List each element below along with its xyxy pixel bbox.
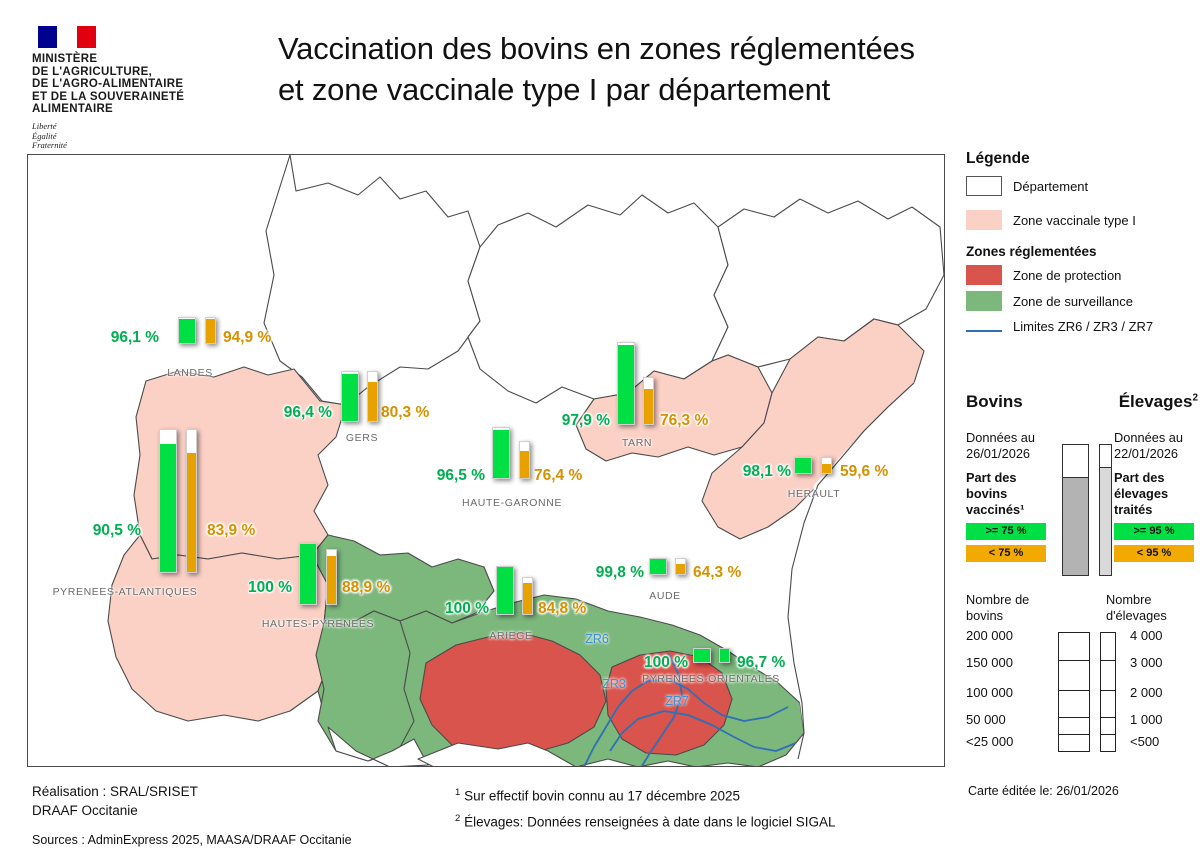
- stats-heading-elevages-sup: 2: [1192, 392, 1198, 403]
- size-label-bovins-4: <25 000: [966, 734, 1013, 749]
- pct-bovins-herault: 98,1 %: [743, 463, 791, 481]
- bar-bovins-fill-tarn: [618, 345, 634, 424]
- pct-elevages-tarn: 76,3 %: [660, 412, 708, 430]
- swatch-departement-icon: [966, 176, 1002, 196]
- bar-elevages-fill-landes: [206, 319, 215, 343]
- size-bovins-title-1: Nombre de: [966, 592, 1058, 608]
- bar-elevages-fill-haute-garonne: [520, 451, 529, 479]
- bar-elevages-tarn: [643, 377, 654, 425]
- footer-note-1-sup: 1: [455, 787, 460, 798]
- pct-elevages-pyrenees-atlantiques: 83,9 %: [207, 522, 255, 540]
- bar-bovins-fill-pyrenees-atlantiques: [160, 444, 176, 573]
- pct-bovins-hautes-pyrenees: 100 %: [248, 579, 292, 597]
- size-label-elevages-2: 2 000: [1130, 685, 1163, 700]
- bar-bovins-gers: [341, 371, 359, 422]
- footer-note-2-text: Élevages: Données renseignées à date dan…: [464, 814, 836, 829]
- bar-bovins-pyrenees-atlantiques: [159, 429, 177, 573]
- legend-title: Légende: [966, 150, 1194, 168]
- bar-elevages-hautes-pyrenees: [326, 549, 337, 605]
- stats-heading-elevages: Élevages2: [1119, 392, 1198, 412]
- size-elevages-title-2: d'élevages: [1106, 608, 1198, 624]
- map-canvas[interactable]: LANDES96,1 %94,9 %PYRENEES-ATLANTIQUES90…: [27, 154, 945, 767]
- ministry-line-0: MINISTÈRE: [32, 53, 232, 66]
- pct-bovins-haute-garonne: 96,5 %: [437, 467, 485, 485]
- legend-item-limites-zr[interactable]: Limites ZR6 / ZR3 / ZR7: [966, 319, 1194, 334]
- swatch-limites-zr-icon: [966, 330, 1002, 332]
- bovins-data-line1: Données au: [966, 430, 1050, 446]
- elevages-part-line3: traités: [1114, 502, 1198, 518]
- bar-elevages-fill-herault: [822, 464, 831, 473]
- bar-bovins-aude: [649, 558, 667, 575]
- footer-note-2: 2 Élevages: Données renseignées à date d…: [455, 808, 836, 834]
- size-bovins-title-2: bovins: [966, 608, 1058, 624]
- ministry-line-1: DE L'AGRICULTURE,: [32, 66, 232, 79]
- size-label-bovins-2: 100 000: [966, 685, 1013, 700]
- bar-elevages-herault: [821, 457, 832, 474]
- pct-elevages-hautes-pyrenees: 88,9 %: [342, 579, 390, 597]
- swatch-zone-surveillance-icon: [966, 291, 1002, 311]
- motto-line-0: Liberté: [32, 122, 232, 132]
- legend-panel: Légende Département Zone vaccinale type …: [966, 150, 1194, 334]
- bar-elevages-ariege: [522, 577, 533, 615]
- french-flag-icon: [38, 26, 96, 48]
- dept-shape-white-nw: [264, 155, 480, 405]
- bar-bovins-landes: [178, 317, 196, 344]
- zr-label-zr7: ZR7: [665, 694, 689, 708]
- ministry-line-2: DE L'AGRO-ALIMENTAIRE: [32, 78, 232, 91]
- bovins-data-line2: 26/01/2026: [966, 446, 1050, 462]
- size-legend-headings: Nombre de bovins Nombre d'élevages: [966, 592, 1198, 624]
- stats-elevages-text: Données au 22/01/2026 Part des élevages …: [1114, 430, 1198, 562]
- bovins-threshold-low-chip: < 75 %: [966, 545, 1046, 562]
- size-label-elevages-4: <500: [1130, 734, 1159, 749]
- bar-bovins-fill-herault: [795, 458, 811, 473]
- pct-elevages-ariege: 84,8 %: [538, 600, 586, 618]
- footer-note-1-text: Sur effectif bovin connu au 17 décembre …: [464, 789, 740, 804]
- swatch-zone-vaccinale-icon: [966, 210, 1002, 230]
- legend-label-limites-zr: Limites ZR6 / ZR3 / ZR7: [1013, 319, 1153, 334]
- stats-bovins-text: Données au 26/01/2026 Part des bovins va…: [966, 430, 1050, 562]
- stats-heading-elevages-text: Élevages: [1119, 392, 1193, 411]
- pct-bovins-aude: 99,8 %: [596, 564, 644, 582]
- ministry-line-4: ALIMENTAIRE: [32, 103, 232, 116]
- bar-elevages-fill-pyrenees-orientales: [720, 649, 729, 662]
- bar-bovins-ariege: [496, 566, 514, 615]
- page-header: MINISTÈRE DE L'AGRICULTURE, DE L'AGRO-AL…: [0, 0, 1200, 150]
- footer-realisation-2: DRAAF Occitanie: [32, 801, 352, 820]
- size-box-elevages: [1100, 632, 1116, 752]
- refbar-elevages-fill: [1100, 467, 1111, 575]
- legend-label-zone-protection: Zone de protection: [1013, 268, 1121, 283]
- bovins-threshold-high-chip: >= 75 %: [966, 523, 1046, 540]
- size-seg-bovins-3: [1059, 717, 1089, 718]
- pct-elevages-aude: 64,3 %: [693, 564, 741, 582]
- size-legend-bovins-heading: Nombre de bovins: [966, 592, 1058, 624]
- size-legend-elevages-heading: Nombre d'élevages: [1080, 592, 1198, 624]
- title-line-2: et zone vaccinale type I par département: [278, 69, 1168, 110]
- swatch-zone-protection-icon: [966, 265, 1002, 285]
- legend-subtitle-zones-reglementees: Zones réglementées: [966, 244, 1194, 259]
- pct-bovins-pyrenees-atlantiques: 90,5 %: [93, 522, 141, 540]
- bovins-part-line1: Part des: [966, 470, 1050, 486]
- legend-item-zone-protection[interactable]: Zone de protection: [966, 265, 1194, 285]
- motto-line-2: Fraternité: [32, 141, 232, 151]
- bar-bovins-haute-garonne: [492, 427, 510, 479]
- elevages-part-line2: élevages: [1114, 486, 1198, 502]
- bar-elevages-pyrenees-orientales: [719, 648, 730, 663]
- refbar-bovins-fill: [1063, 477, 1088, 576]
- legend-item-departement[interactable]: Département: [966, 176, 1194, 196]
- zr-label-zr6: ZR6: [585, 632, 609, 646]
- bar-elevages-gers: [367, 371, 378, 422]
- elevages-part-line1: Part des: [1114, 470, 1198, 486]
- dept-shape-white-nc: [468, 195, 728, 403]
- size-legend-panel: Nombre de bovins Nombre d'élevages 200 0…: [966, 592, 1198, 624]
- pct-elevages-pyrenees-orientales: 96,7 %: [737, 654, 785, 672]
- bar-bovins-fill-ariege: [497, 567, 513, 614]
- republic-motto: Liberté Égalité Fraternité: [32, 122, 232, 151]
- elevages-threshold-high-chip: >= 95 %: [1114, 523, 1194, 540]
- bar-elevages-fill-gers: [368, 382, 377, 421]
- elevages-data-line1: Données au: [1114, 430, 1198, 446]
- pct-bovins-landes: 96,1 %: [111, 329, 159, 347]
- bovins-part-line3: vaccinés¹: [966, 502, 1050, 518]
- bar-bovins-fill-haute-garonne: [493, 430, 509, 478]
- legend-item-zone-surveillance[interactable]: Zone de surveillance: [966, 291, 1194, 311]
- size-label-elevages-3: 1 000: [1130, 712, 1163, 727]
- refbar-bovins: [1062, 444, 1089, 576]
- footer-left: Réalisation : SRAL/SRISET DRAAF Occitani…: [32, 782, 352, 850]
- bar-bovins-herault: [794, 457, 812, 474]
- size-seg-elevages-3: [1101, 717, 1115, 718]
- ministry-logo: MINISTÈRE DE L'AGRICULTURE, DE L'AGRO-AL…: [32, 26, 232, 151]
- bar-elevages-fill-aude: [676, 564, 685, 574]
- legend-label-zone-vaccinale: Zone vaccinale type I: [1013, 213, 1136, 228]
- legend-label-zone-surveillance: Zone de surveillance: [1013, 294, 1133, 309]
- pct-elevages-landes: 94,9 %: [223, 329, 271, 347]
- pct-elevages-haute-garonne: 76,4 %: [534, 467, 582, 485]
- bar-bovins-fill-gers: [342, 374, 358, 421]
- bar-bovins-tarn: [617, 342, 635, 425]
- size-label-bovins-3: 50 000: [966, 712, 1006, 727]
- dept-shape-hautes-pyrenees: [316, 611, 414, 761]
- size-label-bovins-0: 200 000: [966, 628, 1013, 643]
- bar-elevages-fill-hautes-pyrenees: [327, 556, 336, 604]
- size-label-elevages-1: 3 000: [1130, 655, 1163, 670]
- stats-headings: Bovins Élevages2: [966, 392, 1198, 412]
- pct-bovins-gers: 96,4 %: [284, 404, 332, 422]
- size-seg-elevages-2: [1101, 690, 1115, 691]
- size-seg-elevages-1: [1101, 660, 1115, 661]
- bar-bovins-fill-landes: [179, 319, 195, 343]
- bar-bovins-fill-aude: [650, 559, 666, 574]
- footer-sources: Sources : AdminExpress 2025, MAASA/DRAAF…: [32, 831, 352, 850]
- bar-bovins-fill-pyrenees-orientales: [694, 649, 710, 662]
- elevages-data-line2: 22/01/2026: [1114, 446, 1198, 462]
- bar-elevages-aude: [675, 558, 686, 575]
- bovins-part-line2: bovins: [966, 486, 1050, 502]
- pct-bovins-tarn: 97,9 %: [562, 412, 610, 430]
- footer-note-1: 1 Sur effectif bovin connu au 17 décembr…: [455, 782, 836, 808]
- bar-elevages-haute-garonne: [519, 441, 530, 479]
- legend-item-zone-vaccinale[interactable]: Zone vaccinale type I: [966, 210, 1194, 230]
- ministry-line-3: ET DE LA SOUVERAINETÉ: [32, 91, 232, 104]
- size-seg-bovins-2: [1059, 690, 1089, 691]
- pct-bovins-pyrenees-orientales: 100 %: [644, 654, 688, 672]
- bar-bovins-pyrenees-orientales: [693, 648, 711, 663]
- stats-grid: Données au 26/01/2026 Part des bovins va…: [966, 430, 1198, 578]
- page-footer: Réalisation : SRAL/SRISET DRAAF Occitani…: [0, 772, 1200, 849]
- footer-realisation-1: Réalisation : SRAL/SRISET: [32, 782, 352, 801]
- size-seg-bovins-4: [1059, 734, 1089, 735]
- ministry-name: MINISTÈRE DE L'AGRICULTURE, DE L'AGRO-AL…: [32, 53, 232, 116]
- page-title: Vaccination des bovins en zones réglemen…: [278, 28, 1168, 110]
- bar-elevages-fill-ariege: [523, 583, 532, 614]
- zr-label-zr3: ZR3: [602, 677, 626, 691]
- size-label-bovins-1: 150 000: [966, 655, 1013, 670]
- legend-label-departement: Département: [1013, 179, 1088, 194]
- elevages-threshold-low-chip: < 95 %: [1114, 545, 1194, 562]
- size-seg-bovins-1: [1059, 660, 1089, 661]
- footer-note-2-sup: 2: [455, 813, 460, 824]
- title-line-1: Vaccination des bovins en zones réglemen…: [278, 28, 1168, 69]
- bar-elevages-fill-tarn: [644, 389, 653, 424]
- bar-elevages-fill-pyrenees-atlantiques: [187, 453, 196, 572]
- refbar-elevages: [1099, 444, 1112, 576]
- pct-bovins-ariege: 100 %: [445, 600, 489, 618]
- bar-bovins-fill-hautes-pyrenees: [300, 544, 316, 604]
- bar-bovins-hautes-pyrenees: [299, 543, 317, 605]
- pct-elevages-herault: 59,6 %: [840, 463, 888, 481]
- footer-edition-date: Carte éditée le: 26/01/2026: [968, 784, 1119, 798]
- bar-elevages-landes: [205, 317, 216, 344]
- size-box-bovins: [1058, 632, 1090, 752]
- size-legend-body: 200 000 150 000 100 000 50 000 <25 000 4…: [966, 632, 1198, 757]
- pct-elevages-gers: 80,3 %: [381, 404, 429, 422]
- bar-elevages-pyrenees-atlantiques: [186, 429, 197, 573]
- size-label-elevages-0: 4 000: [1130, 628, 1163, 643]
- footer-notes: 1 Sur effectif bovin connu au 17 décembr…: [455, 782, 836, 833]
- stats-heading-bovins: Bovins: [966, 392, 1023, 412]
- size-elevages-title-1: Nombre: [1106, 592, 1198, 608]
- stats-legend-panel: Bovins Élevages2 Données au 26/01/2026 P…: [966, 392, 1198, 578]
- size-seg-elevages-4: [1101, 734, 1115, 735]
